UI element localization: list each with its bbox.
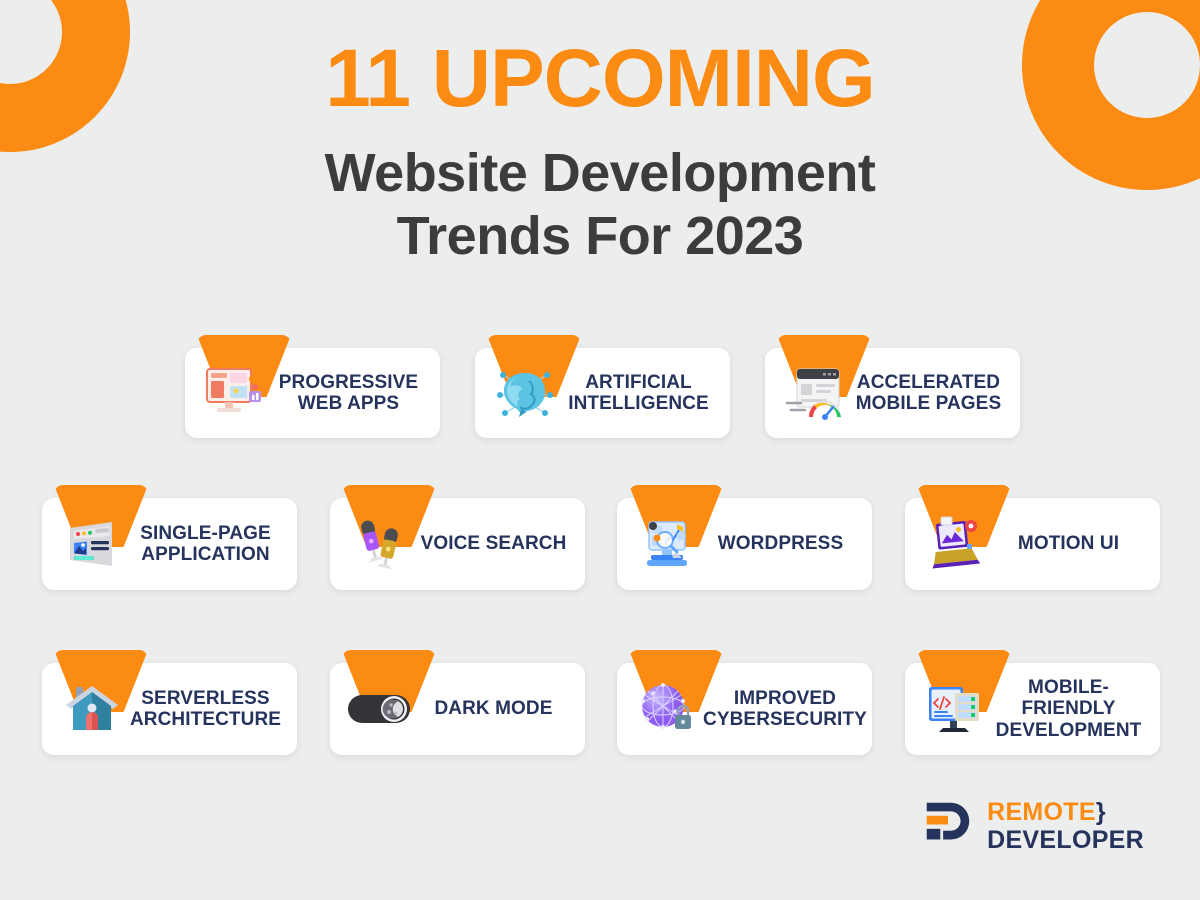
house-icon [56,673,128,745]
card-label-line: WORDPRESS [703,533,858,554]
trend-card-progressive-web-apps[interactable]: PROGRESSIVEWEB APPS [185,348,440,438]
logo-brace-glyph: } [1096,798,1106,826]
card-label-line: MOBILE- [991,677,1146,698]
card-content: MOTION UI [905,498,1160,590]
trend-card-single-page-application[interactable]: SINGLE-PAGEAPPLICATION [42,498,297,590]
globe-lock-icon [631,673,703,745]
remote-developer-logo: REMOTE} DEVELOPER [919,795,1144,858]
trend-card-serverless-architecture[interactable]: SERVERLESSARCHITECTURE [42,663,297,755]
card-content: PROGRESSIVEWEB APPS [185,348,440,438]
trend-card-wordpress[interactable]: WORDPRESS [617,498,872,590]
card-content: VOICE SEARCH [330,498,585,590]
card-label-line: DEVELOPMENT [991,720,1146,741]
card-label-line: SERVERLESS [128,688,283,709]
card-content: ACCELERATEDMOBILE PAGES [765,348,1020,438]
page-subhead-line-1: Website Development [325,143,876,203]
speed-gauge-page-icon [779,357,851,429]
browser-window-icon [56,508,128,580]
card-content: MOBILE-FRIENDLYDEVELOPMENT [905,663,1160,755]
card-content: IMPROVEDCYBERSECURITY [617,663,872,755]
card-content: SERVERLESSARCHITECTURE [42,663,297,755]
card-label-serverless-architecture: SERVERLESSARCHITECTURE [128,688,287,731]
card-label-line: VOICE SEARCH [416,533,571,554]
card-label-line: ARTIFICIAL [561,372,716,393]
card-content: DARK MODE [330,663,585,755]
card-label-motion-ui: MOTION UI [991,533,1150,554]
page-subhead: Website Development Trends For 2023 [0,142,1200,267]
card-label-line: SINGLE-PAGE [128,523,283,544]
card-label-line: DARK MODE [416,698,571,719]
card-label-line: ACCELERATED [851,372,1006,393]
card-label-line: MOBILE PAGES [851,393,1006,414]
brain-network-icon [489,357,561,429]
card-label-line: ARCHITECTURE [128,709,283,730]
laptop-media-icon [919,508,991,580]
card-content: WORDPRESS [617,498,872,590]
trend-card-artificial-intelligence[interactable]: ARTIFICIALINTELLIGENCE [475,348,730,438]
header: 11 UPCOMING Website Development Trends F… [0,38,1200,267]
remote-developer-r-icon [919,795,977,858]
desktop-code-icon [919,673,991,745]
card-content: ARTIFICIALINTELLIGENCE [475,348,730,438]
card-label-single-page-application: SINGLE-PAGEAPPLICATION [128,523,287,566]
card-label-line: IMPROVED [703,688,867,709]
card-label-line: FRIENDLY [991,698,1146,719]
logo-wordmark: REMOTE} DEVELOPER [987,800,1144,853]
card-label-line: MOTION UI [991,533,1146,554]
monitor-dashboard-icon [199,357,271,429]
page-subhead-line-2: Trends For 2023 [0,205,1200,268]
trend-card-motion-ui[interactable]: MOTION UI [905,498,1160,590]
trend-card-accelerated-mobile-pages[interactable]: ACCELERATEDMOBILE PAGES [765,348,1020,438]
card-label-improved-cybersecurity: IMPROVEDCYBERSECURITY [703,688,871,731]
logo-top-line: REMOTE} [987,800,1144,825]
trend-card-mobile-friendly-development[interactable]: MOBILE-FRIENDLYDEVELOPMENT [905,663,1160,755]
card-label-dark-mode: DARK MODE [416,698,575,719]
toggle-moon-icon [344,673,416,745]
card-content: SINGLE-PAGEAPPLICATION [42,498,297,590]
card-label-line: CYBERSECURITY [703,709,867,730]
microphones-icon [344,508,416,580]
card-label-mobile-friendly-development: MOBILE-FRIENDLYDEVELOPMENT [991,677,1150,741]
analytics-monitor-icon [631,508,703,580]
card-label-line: INTELLIGENCE [561,393,716,414]
card-label-line: WEB APPS [271,393,426,414]
trend-card-dark-mode[interactable]: DARK MODE [330,663,585,755]
card-label-wordpress: WORDPRESS [703,533,862,554]
logo-developer-text: DEVELOPER [987,828,1144,853]
card-label-line: PROGRESSIVE [271,372,426,393]
logo-remote-text: REMOTE [987,798,1096,826]
card-label-artificial-intelligence: ARTIFICIALINTELLIGENCE [561,372,720,415]
card-label-line: APPLICATION [128,544,283,565]
trend-card-voice-search[interactable]: VOICE SEARCH [330,498,585,590]
card-label-accelerated-mobile-pages: ACCELERATEDMOBILE PAGES [851,372,1010,415]
card-label-progressive-web-apps: PROGRESSIVEWEB APPS [271,372,430,415]
page-headline: 11 UPCOMING [0,38,1200,120]
card-label-voice-search: VOICE SEARCH [416,533,575,554]
trend-card-improved-cybersecurity[interactable]: IMPROVEDCYBERSECURITY [617,663,872,755]
